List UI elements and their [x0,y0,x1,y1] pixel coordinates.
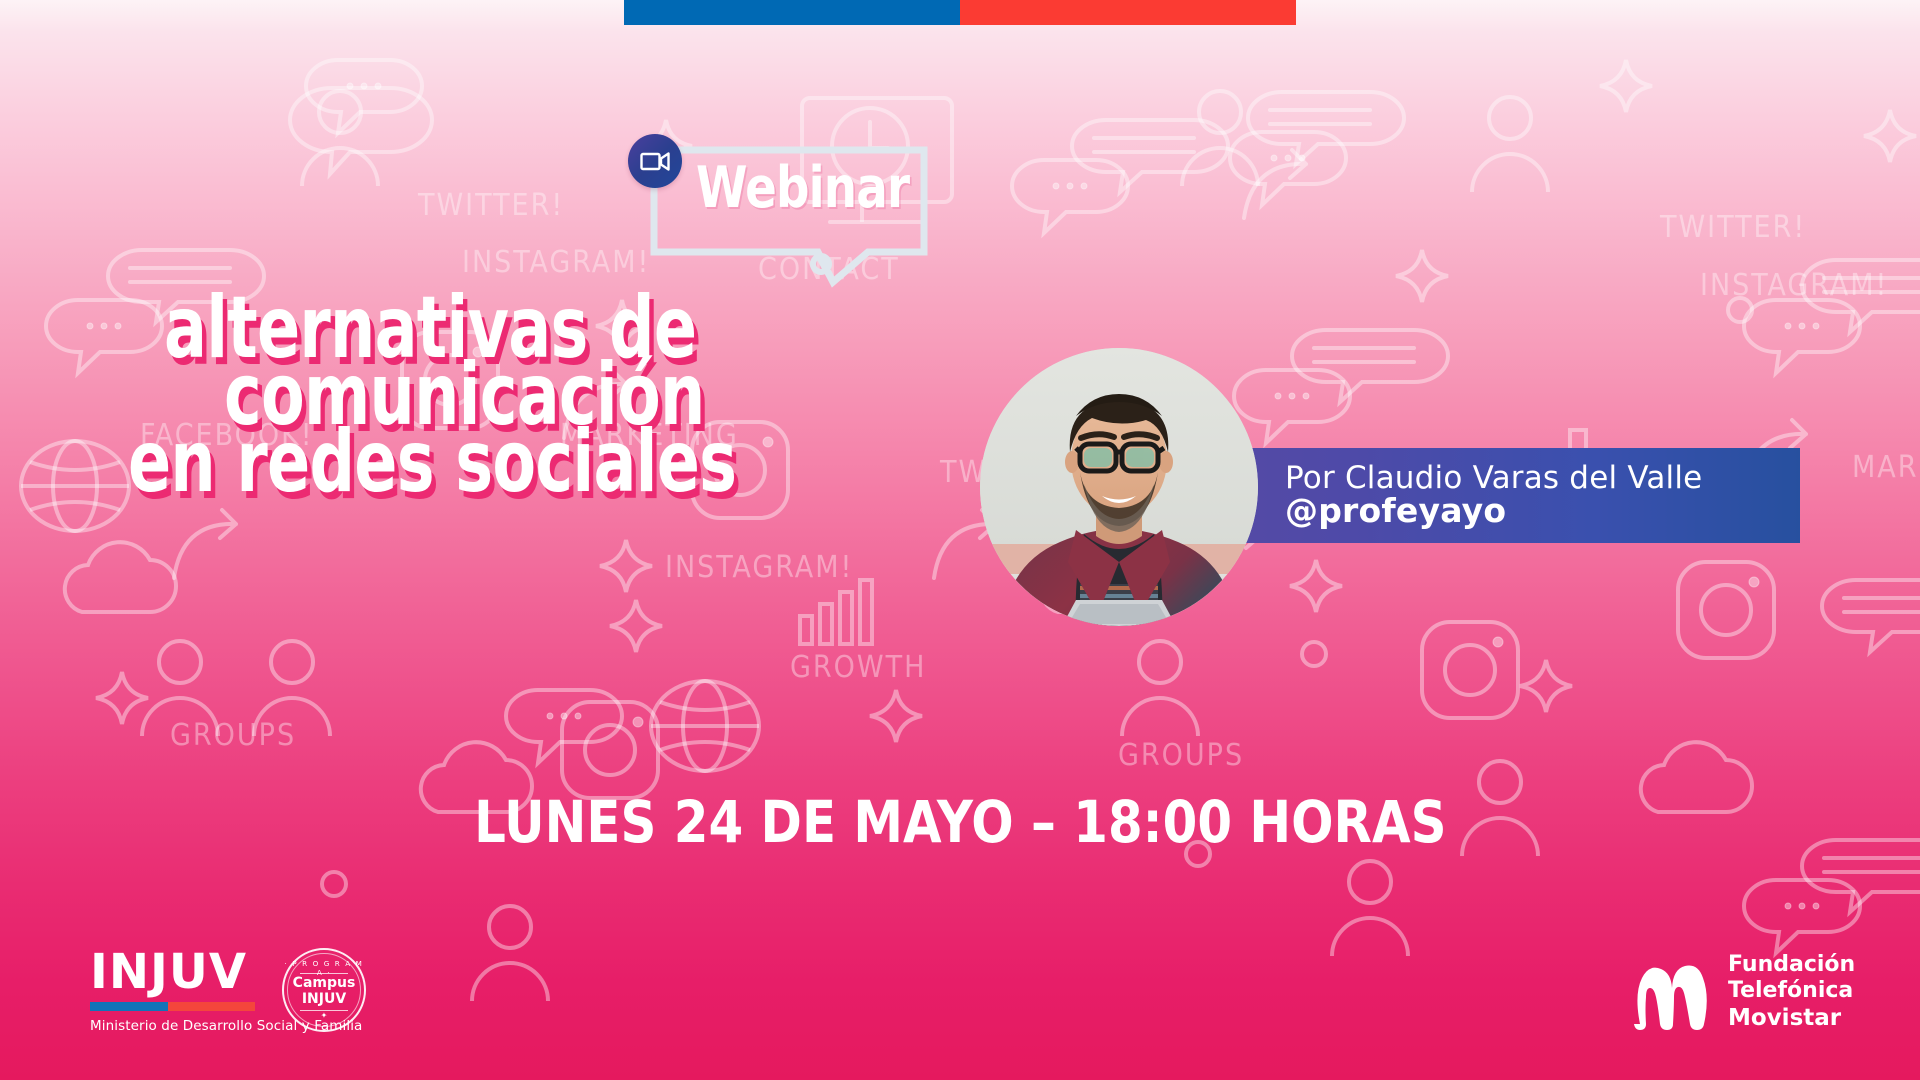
event-date-time: LUNES 24 DE MAYO – 18:00 HORAS [0,788,1920,856]
movistar-line-1: Fundación [1728,952,1855,978]
watermark-word: TWITTER! [1660,210,1806,245]
campus-injuv-badge: · P R O G R A M A · Campus INJUV ✦ [282,948,366,1032]
badge-campus-line1: Campus [282,976,366,992]
page-title: alternativas de comunicación en redes so… [128,292,828,500]
badge-star-icon: ✦ [282,1012,366,1020]
watermark-word: INSTAGRAM! [665,550,853,585]
chile-flag-bar [624,0,1296,25]
watermark-word: TWITTER! [418,188,564,223]
injuv-color-bar [90,1002,255,1011]
webinar-poster: TWITTER!INSTAGRAM!CONTACTFACEBOOK!MARKET… [0,0,1920,1080]
injuv-bar-red [168,1002,255,1011]
movistar-wordmark: Fundación Telefónica Movistar [1728,952,1855,1032]
speaker-handle: @profeyayo [1285,494,1800,529]
movistar-m-icon [1630,954,1714,1030]
movistar-line-3: Movistar [1728,1005,1855,1033]
avatar [980,348,1258,626]
title-line-3: en redes sociales [128,426,646,500]
watermark-word: INSTAGRAM! [462,245,650,280]
movistar-line-2: Telefónica [1728,978,1855,1004]
flag-bar-red [960,0,1296,25]
watermark-word: GROWTH [790,650,926,685]
watermark-word: GROUPS [1118,738,1244,773]
event-date-text: LUNES 24 DE MAYO – 18:00 HORAS [474,788,1446,856]
watermark-word: MAR [1852,450,1919,485]
watermark-word: GROUPS [170,718,296,753]
badge-rule-top [300,973,348,974]
badge-campus-text: Campus INJUV [282,976,366,1007]
injuv-bar-blue [90,1002,168,1011]
fundacion-telefonica-movistar-logo: Fundación Telefónica Movistar [1630,952,1855,1032]
speaker-name: Por Claudio Varas del Valle [1285,462,1800,495]
watermark-word: INSTAGRAM! [1700,268,1888,303]
video-camera-icon [628,134,682,188]
flag-bar-blue [624,0,960,25]
webinar-label: Webinar [696,160,909,217]
badge-campus-line2: INJUV [282,992,366,1008]
